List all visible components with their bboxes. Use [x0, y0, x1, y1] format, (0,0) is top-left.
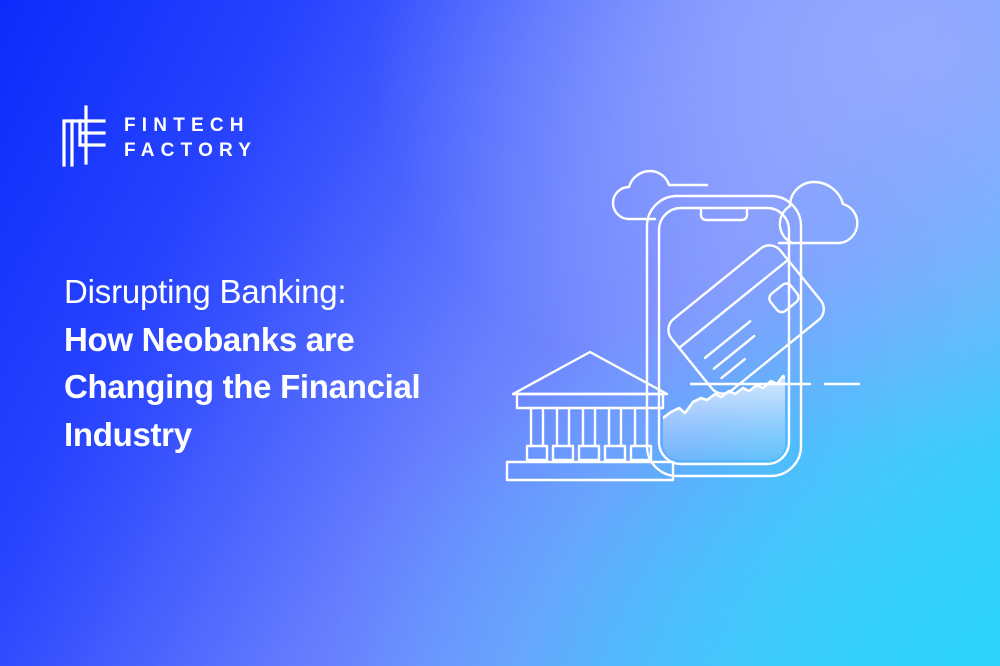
headline-line-4: Industry [64, 411, 494, 459]
credit-card-icon [663, 240, 830, 400]
brand-logo[interactable]: FINTECH FACTORY [60, 105, 257, 172]
brand-name-line-2: FACTORY [124, 141, 257, 162]
brand-wordmark: FINTECH FACTORY [124, 116, 257, 161]
cloud-right-icon [779, 182, 857, 243]
brand-name-line-1: FINTECH [124, 116, 257, 137]
poster-canvas: FINTECH FACTORY Disrupting Banking: How … [0, 0, 1000, 666]
headline-line-3: Changing the Financial [64, 363, 494, 411]
headline-line-2: How Neobanks are [64, 316, 494, 364]
headline-line-1: Disrupting Banking: [64, 268, 494, 316]
fintech-factory-monogram-icon [60, 105, 108, 172]
hero-illustration [495, 150, 915, 520]
illustration-svg [495, 150, 915, 520]
page-title: Disrupting Banking: How Neobanks are Cha… [64, 268, 494, 458]
